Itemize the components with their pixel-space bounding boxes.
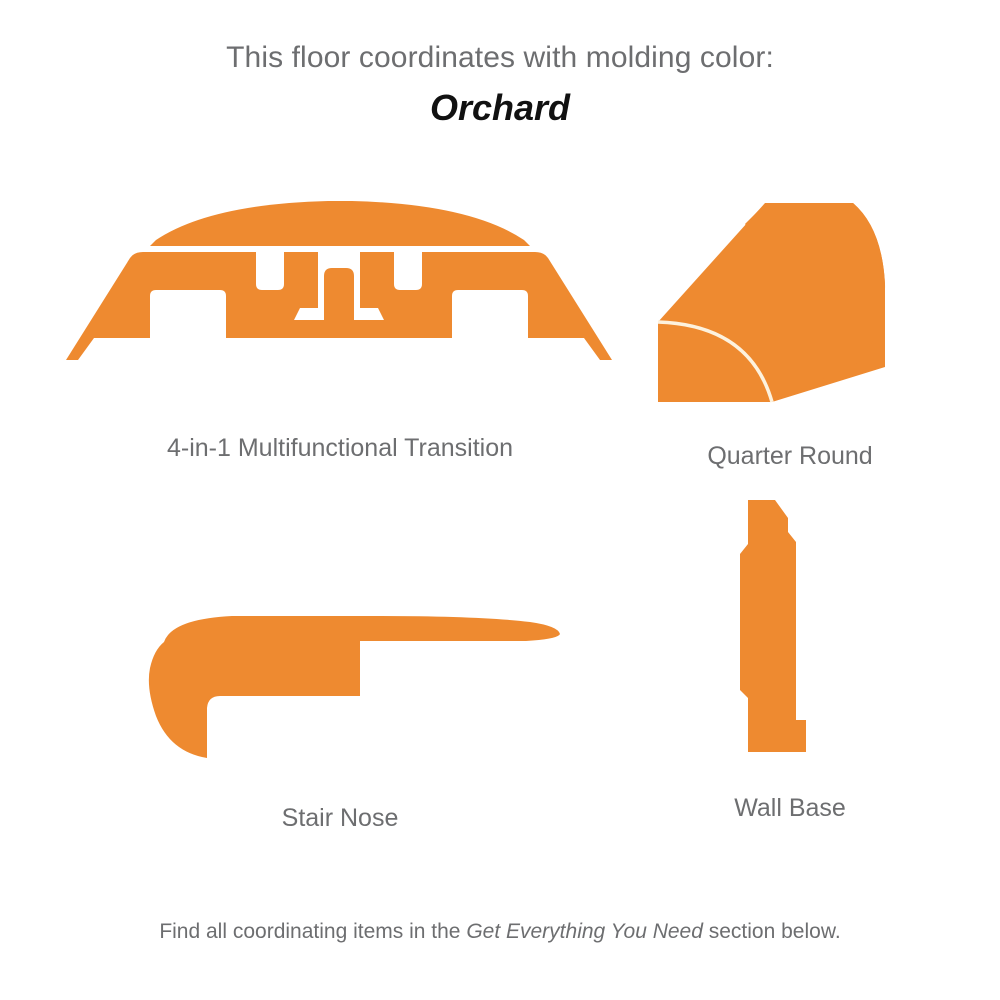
transition-art <box>60 188 620 418</box>
quarter-round-label: Quarter Round <box>620 440 960 472</box>
product-quarter-round: Quarter Round <box>620 170 960 472</box>
quarter-round-profile-icon <box>620 170 960 420</box>
stair-nose-label: Stair Nose <box>60 802 620 834</box>
product-grid: 4-in-1 Multifunctional Transition Quarte… <box>0 170 1000 870</box>
footer-suffix: section below. <box>703 920 841 943</box>
product-transition: 4-in-1 Multifunctional Transition <box>60 188 620 464</box>
transition-top-cap <box>150 201 530 246</box>
footer-prefix: Find all coordinating items in the <box>159 920 466 943</box>
wall-base-body <box>740 500 806 752</box>
stair-nose-body <box>149 616 560 758</box>
footer-emphasis: Get Everything You Need <box>466 920 703 943</box>
wall-base-label: Wall Base <box>620 792 960 824</box>
quarter-round-art <box>620 170 960 420</box>
molding-coordination-page: This floor coordinates with molding colo… <box>0 0 1000 1000</box>
page-title: This floor coordinates with molding colo… <box>0 38 1000 78</box>
product-wall-base: Wall Base <box>620 470 960 824</box>
stair-nose-art <box>60 588 620 768</box>
footer-note: Find all coordinating items in the Get E… <box>0 918 1000 946</box>
page-header: This floor coordinates with molding colo… <box>0 38 1000 132</box>
molding-color-name: Orchard <box>0 84 1000 132</box>
transition-profile-icon <box>60 188 620 418</box>
product-stair-nose: Stair Nose <box>60 588 620 834</box>
transition-body <box>66 252 612 360</box>
stair-nose-profile-icon <box>60 588 620 768</box>
transition-label: 4-in-1 Multifunctional Transition <box>60 432 620 464</box>
wall-base-profile-icon <box>620 470 960 770</box>
wall-base-art <box>620 470 960 770</box>
